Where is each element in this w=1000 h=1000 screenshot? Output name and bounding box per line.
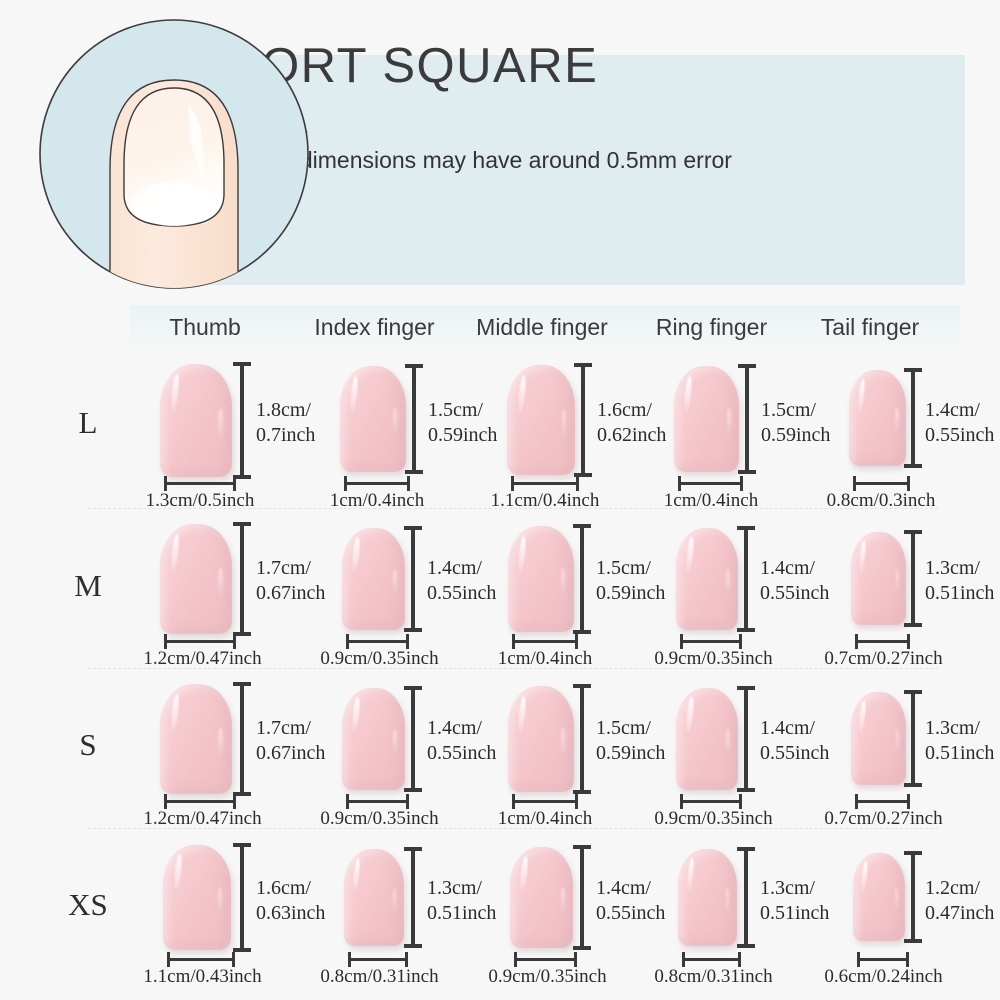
height-measure-bar — [240, 363, 244, 478]
width-measure-bar — [855, 640, 910, 643]
height-cm: 1.4cm/ — [760, 717, 815, 739]
height-label: 1.3cm/ 0.51inch — [925, 716, 994, 766]
height-measure-bar — [412, 365, 416, 473]
height-label: 1.8cm/ 0.7inch — [256, 398, 315, 448]
nail-highlight-secondary-icon — [895, 408, 898, 433]
width-measure-bar — [167, 958, 235, 961]
height-label: 1.4cm/ 0.55inch — [760, 556, 829, 606]
width-label: 0.6cm/0.24inch — [811, 966, 956, 988]
nail-swatch — [508, 686, 574, 792]
nail-highlight-icon — [519, 856, 528, 891]
nail-highlight-secondary-icon — [896, 729, 899, 753]
nail-highlight-icon — [351, 537, 360, 572]
nail-highlight-icon — [517, 535, 527, 571]
height-measure-bar — [411, 527, 415, 631]
width-measure-bar — [164, 482, 236, 485]
height-inch: 0.51inch — [925, 742, 994, 764]
width-measure-bar — [855, 800, 910, 803]
nail-highlight-icon — [685, 537, 694, 572]
nail-swatch — [676, 528, 738, 630]
height-cm: 1.4cm/ — [925, 399, 980, 421]
width-measure-bar — [164, 800, 236, 803]
height-label: 1.7cm/ 0.67inch — [256, 716, 325, 766]
nail-highlight-secondary-icon — [393, 569, 397, 596]
height-label: 1.3cm/ 0.51inch — [925, 556, 994, 606]
nail-highlight-icon — [683, 375, 693, 411]
size-label-xs: XS — [60, 887, 116, 923]
width-measure-bar — [346, 640, 409, 643]
nail-highlight-icon — [352, 858, 361, 891]
nail-swatch — [507, 365, 575, 475]
column-header-middle-finger: Middle finger — [462, 314, 622, 341]
height-cm: 1.5cm/ — [428, 399, 483, 421]
height-measure-bar — [911, 369, 915, 467]
nail-highlight-icon — [517, 695, 527, 731]
height-label: 1.4cm/ 0.55inch — [760, 716, 829, 766]
height-inch: 0.55inch — [596, 902, 665, 924]
height-cm: 1.3cm/ — [925, 557, 980, 579]
nail-highlight-icon — [859, 700, 867, 732]
height-measure-bar — [744, 527, 748, 631]
nail-highlight-secondary-icon — [562, 409, 566, 438]
nail-swatch — [851, 532, 906, 625]
width-label: 0.8cm/0.31inch — [307, 966, 452, 988]
nail-swatch — [344, 849, 404, 946]
nail-highlight-secondary-icon — [218, 728, 222, 757]
width-label: 1cm/0.4inch — [475, 808, 615, 830]
height-measure-bar — [411, 848, 415, 947]
width-label: 1.2cm/0.47inch — [130, 808, 275, 830]
height-inch: 0.51inch — [760, 902, 829, 924]
width-label: 1.2cm/0.47inch — [130, 648, 275, 670]
height-measure-bar — [745, 365, 749, 473]
nail-highlight-icon — [517, 375, 527, 413]
nail-swatch — [851, 692, 906, 785]
height-inch: 0.7inch — [256, 424, 315, 446]
nail-highlight-icon — [859, 540, 867, 572]
nail-size-chart-page: SHORT SQUARE about size： the below dimen… — [0, 0, 1000, 1000]
nail-highlight-secondary-icon — [726, 888, 730, 913]
nail-highlight-secondary-icon — [561, 568, 565, 596]
height-inch: 0.55inch — [427, 582, 496, 604]
size-label-m: M — [60, 568, 116, 604]
size-label-s: S — [60, 727, 116, 763]
height-label: 1.4cm/ 0.55inch — [427, 556, 496, 606]
width-label: 0.9cm/0.35inch — [641, 808, 786, 830]
height-cm: 1.3cm/ — [427, 877, 482, 899]
height-label: 1.5cm/ 0.59inch — [596, 716, 665, 766]
nail-highlight-secondary-icon — [896, 569, 899, 593]
height-measure-bar — [240, 844, 244, 951]
width-label: 0.7cm/0.27inch — [811, 648, 956, 670]
nail-highlight-icon — [685, 697, 694, 732]
nail-highlight-icon — [170, 694, 180, 732]
width-measure-bar — [853, 482, 910, 485]
height-cm: 1.3cm/ — [925, 717, 980, 739]
height-label: 1.5cm/ 0.59inch — [761, 398, 830, 448]
width-label: 1.3cm/0.5inch — [130, 490, 270, 512]
width-label: 0.7cm/0.27inch — [811, 808, 956, 830]
width-measure-bar — [678, 482, 743, 485]
width-measure-bar — [164, 640, 236, 643]
height-inch: 0.63inch — [256, 902, 325, 924]
height-cm: 1.5cm/ — [596, 557, 651, 579]
nail-highlight-secondary-icon — [218, 887, 222, 914]
nail-highlight-icon — [351, 697, 360, 732]
column-header-index-finger: Index finger — [297, 314, 452, 341]
height-measure-bar — [411, 687, 415, 791]
height-inch: 0.51inch — [427, 902, 496, 924]
height-measure-bar — [744, 687, 748, 791]
nail-swatch — [510, 847, 573, 948]
finger-illustration-icon — [38, 18, 310, 290]
height-cm: 1.4cm/ — [427, 557, 482, 579]
height-cm: 1.6cm/ — [597, 399, 652, 421]
nail-highlight-icon — [349, 375, 359, 411]
height-measure-bar — [744, 848, 748, 947]
column-header-ring-finger: Ring finger — [634, 314, 789, 341]
width-measure-bar — [511, 482, 579, 485]
height-measure-bar — [911, 852, 915, 942]
height-inch: 0.55inch — [427, 742, 496, 764]
nail-swatch — [674, 366, 739, 472]
width-label: 1cm/0.4inch — [307, 490, 447, 512]
nail-swatch — [342, 528, 405, 630]
nail-highlight-icon — [173, 854, 183, 890]
height-label: 1.7cm/ 0.67inch — [256, 556, 325, 606]
width-label: 0.9cm/0.35inch — [307, 648, 452, 670]
width-label: 1.1cm/0.4inch — [475, 490, 615, 512]
height-label: 1.5cm/ 0.59inch — [596, 556, 665, 606]
height-inch: 0.59inch — [761, 424, 830, 446]
height-cm: 1.6cm/ — [256, 877, 311, 899]
nail-swatch — [508, 526, 574, 632]
nail-highlight-secondary-icon — [895, 888, 898, 911]
nail-swatch — [160, 684, 232, 794]
width-measure-bar — [344, 482, 410, 485]
width-measure-bar — [512, 800, 578, 803]
width-measure-bar — [348, 958, 408, 961]
width-measure-bar — [346, 800, 409, 803]
nail-highlight-secondary-icon — [393, 729, 397, 756]
width-label: 0.9cm/0.35inch — [307, 808, 452, 830]
height-inch: 0.55inch — [760, 582, 829, 604]
height-inch: 0.59inch — [596, 582, 665, 604]
height-label: 1.6cm/ 0.63inch — [256, 876, 325, 926]
width-measure-bar — [682, 958, 741, 961]
height-label: 1.4cm/ 0.55inch — [596, 876, 665, 926]
height-cm: 1.7cm/ — [256, 717, 311, 739]
height-cm: 1.4cm/ — [760, 557, 815, 579]
height-measure-bar — [240, 523, 244, 635]
height-cm: 1.4cm/ — [596, 877, 651, 899]
height-cm: 1.4cm/ — [427, 717, 482, 739]
nail-highlight-secondary-icon — [561, 887, 565, 913]
height-cm: 1.8cm/ — [256, 399, 311, 421]
height-inch: 0.62inch — [597, 424, 666, 446]
height-inch: 0.67inch — [256, 742, 325, 764]
height-cm: 1.2cm/ — [925, 877, 980, 899]
nail-swatch — [678, 849, 737, 946]
nail-swatch — [849, 370, 906, 466]
height-cm: 1.5cm/ — [761, 399, 816, 421]
width-label: 0.8cm/0.3inch — [811, 490, 951, 512]
nail-highlight-secondary-icon — [727, 408, 731, 436]
nail-highlight-secondary-icon — [218, 409, 222, 438]
nail-swatch — [676, 688, 738, 790]
nail-highlight-secondary-icon — [218, 568, 222, 597]
width-label: 0.8cm/0.31inch — [641, 966, 786, 988]
height-measure-bar — [580, 846, 584, 949]
column-header-tail-finger: Tail finger — [800, 314, 940, 341]
nail-swatch — [163, 845, 231, 950]
column-header-thumb: Thumb — [130, 314, 280, 341]
height-label: 1.3cm/ 0.51inch — [760, 876, 829, 926]
height-label: 1.4cm/ 0.55inch — [925, 398, 994, 448]
width-measure-bar — [680, 800, 742, 803]
height-measure-bar — [581, 364, 585, 476]
height-measure-bar — [580, 525, 584, 633]
nail-swatch — [853, 853, 905, 941]
nail-highlight-icon — [170, 374, 180, 413]
nail-highlight-secondary-icon — [393, 408, 397, 436]
nail-highlight-secondary-icon — [726, 569, 730, 596]
height-label: 1.3cm/ 0.51inch — [427, 876, 496, 926]
width-label: 0.9cm/0.35inch — [641, 648, 786, 670]
height-measure-bar — [240, 683, 244, 795]
width-label: 1cm/0.4inch — [641, 490, 781, 512]
height-inch: 0.59inch — [428, 424, 497, 446]
width-label: 0.9cm/0.35inch — [475, 966, 620, 988]
height-cm: 1.3cm/ — [760, 877, 815, 899]
height-inch: 0.55inch — [760, 742, 829, 764]
nail-swatch — [342, 688, 405, 790]
height-cm: 1.5cm/ — [596, 717, 651, 739]
size-label-l: L — [60, 405, 116, 441]
height-measure-bar — [911, 531, 915, 626]
width-measure-bar — [512, 640, 578, 643]
width-measure-bar — [857, 958, 909, 961]
nail-swatch — [340, 366, 406, 472]
height-label: 1.6cm/ 0.62inch — [597, 398, 666, 448]
nail-highlight-icon — [860, 861, 868, 891]
width-measure-bar — [680, 640, 742, 643]
nail-highlight-secondary-icon — [726, 729, 730, 756]
width-label: 1cm/0.4inch — [475, 648, 615, 670]
nail-swatch — [160, 524, 232, 634]
width-label: 1.1cm/0.43inch — [130, 966, 275, 988]
height-inch: 0.59inch — [596, 742, 665, 764]
height-label: 1.2cm/ 0.47inch — [925, 876, 994, 926]
height-label: 1.5cm/ 0.59inch — [428, 398, 497, 448]
nail-highlight-secondary-icon — [561, 728, 565, 756]
nail-highlight-icon — [170, 534, 180, 572]
nail-highlight-secondary-icon — [393, 888, 397, 913]
height-inch: 0.47inch — [925, 902, 994, 924]
nail-highlight-icon — [857, 378, 866, 411]
height-measure-bar — [580, 685, 584, 793]
height-measure-bar — [911, 691, 915, 786]
height-cm: 1.7cm/ — [256, 557, 311, 579]
height-inch: 0.51inch — [925, 582, 994, 604]
nail-swatch — [160, 364, 232, 477]
height-inch: 0.67inch — [256, 582, 325, 604]
height-label: 1.4cm/ 0.55inch — [427, 716, 496, 766]
nail-highlight-icon — [686, 858, 695, 891]
height-inch: 0.55inch — [925, 424, 994, 446]
width-measure-bar — [514, 958, 577, 961]
